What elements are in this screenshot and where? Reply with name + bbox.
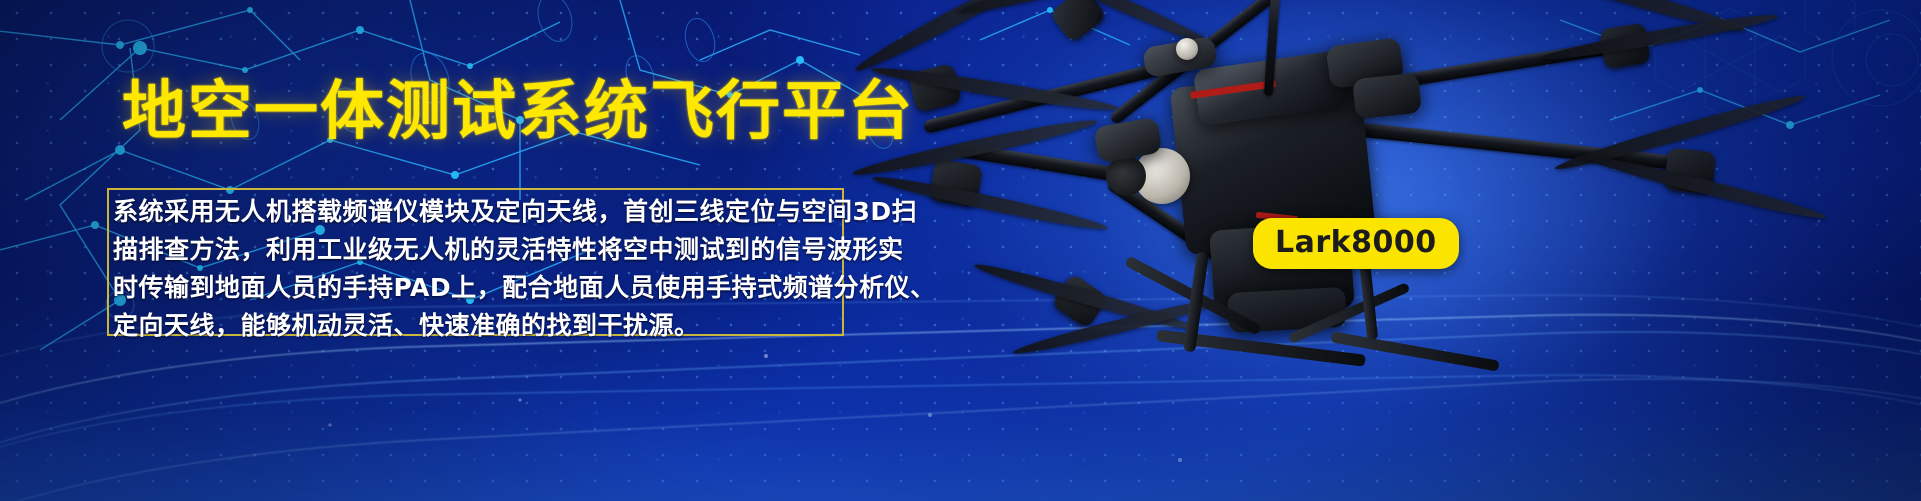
product-model-badge: Lark8000: [1253, 218, 1459, 269]
description-text: 系统采用无人机搭载频谱仪模块及定向天线，首创三线定位与空间3D扫 描排查方法，利…: [113, 193, 903, 345]
banner-root: 地空一体测试系统飞行平台 系统采用无人机搭载频谱仪模块及定向天线，首创三线定位与…: [0, 0, 1921, 501]
description-line-3: 时传输到地面人员的手持PAD上，配合地面人员使用手持式频谱分析仪、: [113, 269, 903, 307]
description-line-4: 定向天线，能够机动灵活、快速准确的找到干扰源。: [113, 307, 903, 345]
description-line-2: 描排查方法，利用工业级无人机的灵活特性将空中测试到的信号波形实: [113, 231, 903, 269]
description-line-1: 系统采用无人机搭载频谱仪模块及定向天线，首创三线定位与空间3D扫: [113, 193, 903, 231]
page-title: 地空一体测试系统飞行平台: [122, 80, 914, 144]
drone-image: [860, 0, 1920, 420]
